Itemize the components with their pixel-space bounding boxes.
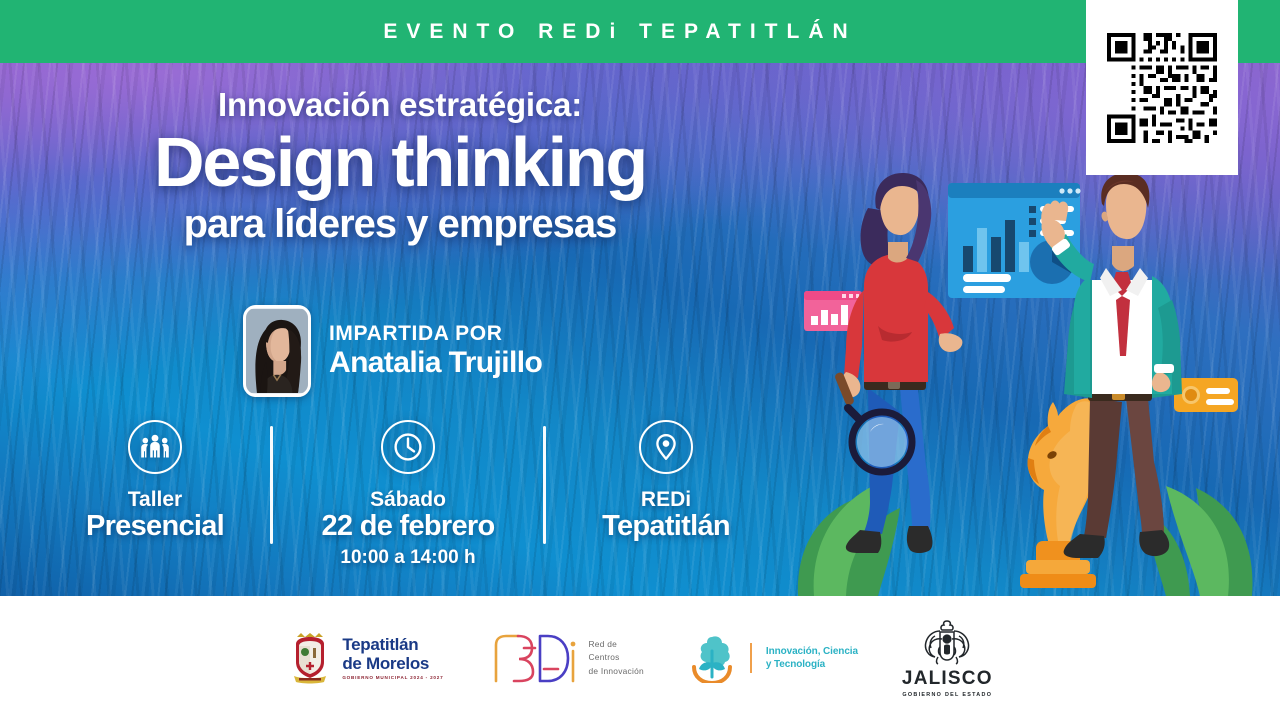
info-divider-2 bbox=[543, 426, 546, 544]
ict-line-1: Innovación, Ciencia bbox=[766, 645, 858, 659]
info-big-0: Presencial bbox=[40, 511, 270, 543]
info-col-date: Sábado 22 de febrero 10:00 a 14:00 h bbox=[273, 420, 543, 570]
redi-mark-icon bbox=[488, 631, 580, 685]
business-strategy-illustration bbox=[790, 150, 1260, 596]
tepatitlan-de-morelos-logo: Tepatitlán de Morelos GOBIERNO MUNICIPAL… bbox=[287, 632, 443, 684]
avatar-photo-icon bbox=[246, 308, 308, 394]
jalisco-logo-text: JALISCO GOBIERNO DEL ESTADO bbox=[902, 668, 993, 698]
tepatitlan-logo-text: Tepatitlán de Morelos GOBIERNO MUNICIPAL… bbox=[342, 635, 443, 680]
tepatitlan-line-2: de Morelos bbox=[342, 654, 443, 673]
jalisco-line-2: GOBIERNO DEL ESTADO bbox=[902, 692, 993, 698]
headline-block: Innovación estratégica: Design thinking … bbox=[0, 88, 800, 245]
speaker-label: IMPARTIDA POR bbox=[329, 323, 542, 345]
jalisco-line-1: JALISCO bbox=[902, 668, 993, 690]
jalisco-gobierno-del-estado-logo: JALISCO GOBIERNO DEL ESTADO bbox=[902, 619, 993, 698]
tepatitlan-line-1: Tepatitlán bbox=[342, 635, 443, 654]
id-card bbox=[1174, 378, 1238, 412]
headline-kicker: Innovación estratégica: bbox=[0, 88, 800, 123]
headline-main: Design thinking bbox=[0, 127, 800, 197]
map-pin-icon bbox=[639, 420, 693, 474]
footer-logos: Tepatitlán de Morelos GOBIERNO MUNICIPAL… bbox=[0, 596, 1280, 720]
ict-line-2: y Tecnología bbox=[766, 658, 858, 672]
qr-code-icon[interactable] bbox=[1103, 29, 1221, 147]
info-small-2: REDi bbox=[546, 488, 786, 511]
speaker-text: IMPARTIDA POR Anatalia Trujillo bbox=[329, 323, 542, 379]
tepatitlan-line-3: GOBIERNO MUNICIPAL 2024 - 2027 bbox=[342, 675, 443, 680]
redi-line-3: de Innovación bbox=[589, 665, 644, 678]
speaker-block: IMPARTIDA POR Anatalia Trujillo bbox=[243, 305, 542, 397]
woman-presenter bbox=[834, 173, 962, 553]
speaker-name: Anatalia Trujillo bbox=[329, 347, 542, 379]
ict-logo-text: Innovación, Ciencia y Tecnología bbox=[766, 645, 858, 672]
group-people-icon bbox=[128, 420, 182, 474]
event-poster: EVENTO REDi TEPATITLÁN bbox=[0, 0, 1280, 720]
qr-card[interactable] bbox=[1086, 0, 1238, 175]
headline-sub: para líderes y empresas bbox=[0, 203, 800, 245]
info-tiny-1: 10:00 a 14:00 h bbox=[273, 547, 543, 570]
speaker-avatar bbox=[243, 305, 311, 397]
redi-logo: Red de Centros de Innovación bbox=[488, 631, 644, 685]
info-big-1: 22 de febrero bbox=[273, 511, 543, 543]
redi-line-1: Red de bbox=[589, 638, 644, 651]
innovacion-ciencia-tecnologia-logo: Innovación, Ciencia y Tecnología bbox=[688, 633, 858, 683]
info-col-modality: Taller Presencial bbox=[40, 420, 270, 543]
info-divider-1 bbox=[270, 426, 273, 544]
redi-logo-text: Red de Centros de Innovación bbox=[589, 638, 644, 677]
info-small-1: Sábado bbox=[273, 488, 543, 511]
flower-sprout-icon bbox=[688, 633, 736, 683]
tepatitlan-coat-of-arms-icon bbox=[287, 632, 333, 684]
info-small-0: Taller bbox=[40, 488, 270, 511]
info-row: Taller Presencial Sábado 22 de febrero 1… bbox=[40, 420, 780, 585]
clock-icon bbox=[381, 420, 435, 474]
info-big-2: Tepatitlán bbox=[546, 511, 786, 543]
redi-line-2: Centros bbox=[589, 651, 644, 664]
ict-divider bbox=[750, 643, 752, 673]
info-col-place: REDi Tepatitlán bbox=[546, 420, 786, 543]
jalisco-shield-icon bbox=[916, 619, 978, 665]
